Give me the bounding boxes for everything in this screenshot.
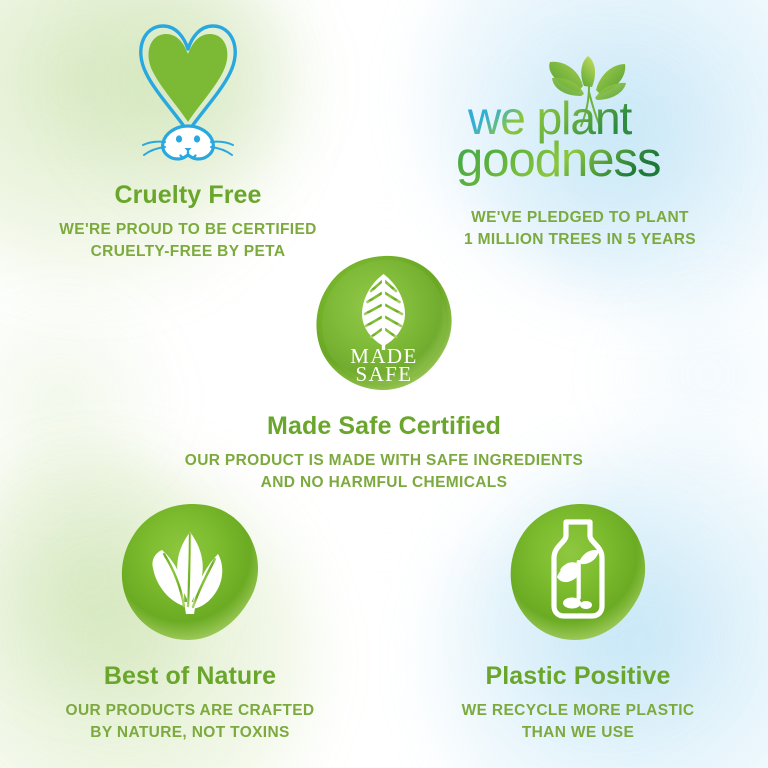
badge-best-of-nature: Best of Nature OUR PRODUCTS ARE CRAFTED …: [14, 498, 366, 744]
we-plant-goodness-description-line-1: WE'VE PLEDGED TO PLANT: [400, 207, 760, 229]
peta-cruelty-free-bunny-icon: [113, 14, 263, 169]
we-plant-goodness-logo: we plant goodness: [450, 56, 710, 191]
best-of-nature-description-line-2: BY NATURE, NOT TOXINS: [14, 722, 366, 744]
plastic-positive-description-line-2: THAN WE USE: [402, 722, 754, 744]
made-safe-icon-wrap: MADE SAFE: [164, 250, 604, 400]
cruelty-free-description-line-1: WE'RE PROUD TO BE CERTIFIED: [8, 219, 368, 241]
made-safe-seal-line-2: SAFE: [356, 362, 413, 386]
made-safe-title: Made Safe Certified: [164, 412, 604, 441]
we-plant-goodness-description: WE'VE PLEDGED TO PLANT 1 MILLION TREES I…: [400, 207, 760, 251]
plastic-positive-description: WE RECYCLE MORE PLASTIC THAN WE USE: [402, 700, 754, 744]
bottle-with-sprout-icon: [502, 498, 654, 650]
cruelty-free-icon-wrap: [8, 14, 368, 169]
best-of-nature-title: Best of Nature: [14, 662, 366, 691]
three-leaf-plant-icon: [114, 498, 266, 650]
badges-grid: Cruelty Free WE'RE PROUD TO BE CERTIFIED…: [0, 0, 768, 768]
made-safe-description: OUR PRODUCT IS MADE WITH SAFE INGREDIENT…: [164, 450, 604, 494]
cruelty-free-title: Cruelty Free: [8, 181, 368, 210]
we-plant-goodness-logo-wrap: we plant goodness: [400, 56, 760, 191]
best-of-nature-description-line-1: OUR PRODUCTS ARE CRAFTED: [14, 700, 366, 722]
made-safe-description-line-1: OUR PRODUCT IS MADE WITH SAFE INGREDIENT…: [164, 450, 604, 472]
badge-made-safe: MADE SAFE Made Safe Certified OUR PRODUC…: [164, 250, 604, 494]
badge-cruelty-free: Cruelty Free WE'RE PROUD TO BE CERTIFIED…: [8, 14, 368, 263]
best-of-nature-icon-wrap: [14, 498, 366, 650]
best-of-nature-description: OUR PRODUCTS ARE CRAFTED BY NATURE, NOT …: [14, 700, 366, 744]
plastic-positive-icon-wrap: [402, 498, 754, 650]
svg-text:goodness: goodness: [456, 133, 661, 186]
plastic-positive-description-line-1: WE RECYCLE MORE PLASTIC: [402, 700, 754, 722]
made-safe-description-line-2: AND NO HARMFUL CHEMICALS: [164, 472, 604, 494]
plastic-positive-title: Plastic Positive: [402, 662, 754, 691]
badge-we-plant-goodness: we plant goodness WE'VE PLEDGED TO PLANT…: [400, 56, 760, 251]
we-plant-goodness-description-line-2: 1 MILLION TREES IN 5 YEARS: [400, 229, 760, 251]
made-safe-seal-icon: MADE SAFE: [309, 250, 459, 400]
badge-plastic-positive: Plastic Positive WE RECYCLE MORE PLASTIC…: [402, 498, 754, 744]
